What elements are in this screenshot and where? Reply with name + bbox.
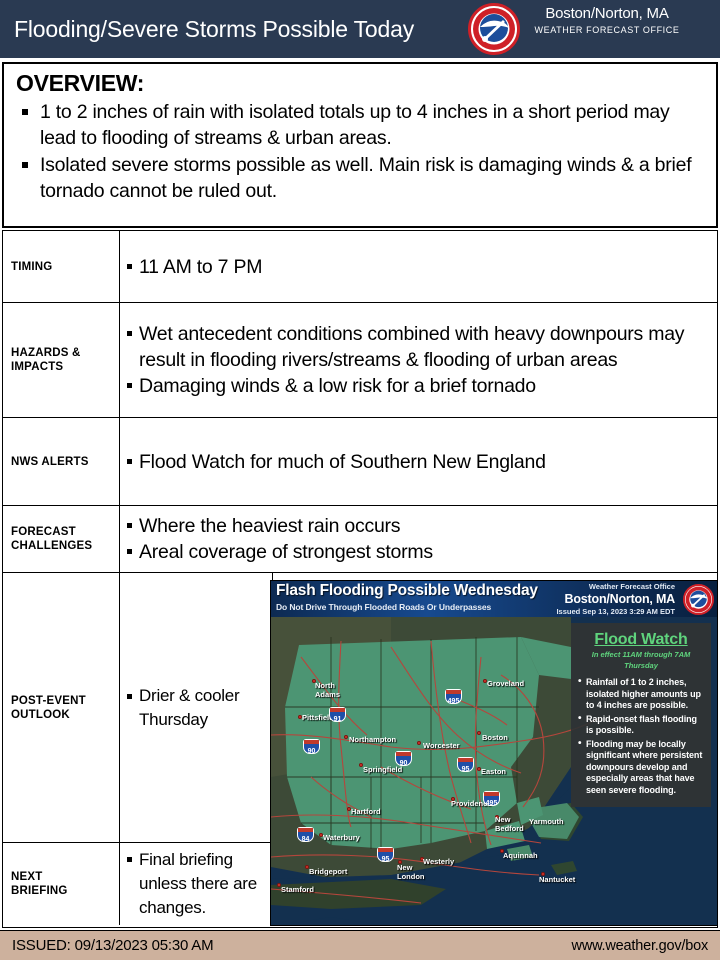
list-item: Rapid-onset flash flooding is possible. bbox=[578, 714, 704, 737]
hazards-bullet-list: Wet antecedent conditions combined with … bbox=[126, 321, 711, 399]
map-canvas: NorthAdams Pittsfield Northampton Spring… bbox=[271, 617, 717, 926]
list-item: Where the heaviest rain occurs bbox=[126, 513, 711, 539]
map-city-label: Yarmouth bbox=[529, 817, 564, 826]
flood-watch-info-box: Flood Watch In effect 11AM through 7AM T… bbox=[571, 623, 711, 807]
row-label-line2: BRIEFING bbox=[11, 884, 68, 898]
issued-timestamp: ISSUED: 09/13/2023 05:30 AM bbox=[12, 937, 213, 954]
map-city-label: Easton bbox=[481, 767, 506, 776]
table-row-nws-alerts: NWS ALERTS Flood Watch for much of South… bbox=[3, 418, 717, 506]
map-office-block: Weather Forecast Office Boston/Norton, M… bbox=[556, 581, 675, 617]
row-content-timing: 11 AM to 7 PM bbox=[120, 231, 717, 302]
map-city-label: NewLondon bbox=[397, 863, 425, 881]
row-label-hazards: HAZARDS & IMPACTS bbox=[3, 303, 120, 417]
row-label-line2: IMPACTS bbox=[11, 360, 81, 374]
row-label-line1: FORECAST bbox=[11, 525, 92, 539]
list-item: Wet antecedent conditions combined with … bbox=[126, 321, 711, 373]
map-city-label: Bridgeport bbox=[309, 867, 347, 876]
list-item: Damaging winds & a low risk for a brief … bbox=[126, 373, 711, 399]
map-city-label: Boston bbox=[482, 733, 508, 742]
list-item: 1 to 2 inches of rain with isolated tota… bbox=[14, 99, 706, 151]
list-item: Flooding may be locally significant wher… bbox=[578, 739, 704, 797]
post-event-bullet-list: Drier & cooler Thursday bbox=[126, 684, 266, 732]
highway-shield-icon: 90 bbox=[303, 739, 320, 754]
highway-shield-icon: 91 bbox=[329, 707, 346, 722]
flood-watch-title: Flood Watch bbox=[578, 630, 704, 649]
row-label-line2: OUTLOOK bbox=[11, 708, 86, 722]
highway-shield-icon: 495 bbox=[445, 689, 462, 704]
row-content-nws-alerts: Flood Watch for much of Southern New Eng… bbox=[120, 418, 717, 505]
row-label-line1: POST-EVENT bbox=[11, 694, 86, 708]
nws-logo-icon bbox=[683, 584, 714, 615]
list-item: 11 AM to 7 PM bbox=[126, 254, 711, 280]
row-label-post-event-outlook: POST-EVENT OUTLOOK bbox=[3, 573, 120, 842]
header-office-block: Boston/Norton, MA WEATHER FORECAST OFFIC… bbox=[502, 4, 712, 36]
forecast-bullet-list: Where the heaviest rain occurs Areal cov… bbox=[126, 513, 711, 565]
flood-watch-subtitle: In effect 11AM through 7AM Thursday bbox=[578, 649, 704, 671]
map-city-label: Worcester bbox=[423, 741, 460, 750]
list-item: Isolated severe storms possible as well.… bbox=[14, 152, 706, 204]
table-row-forecast-challenges: FORECAST CHALLENGES Where the heaviest r… bbox=[3, 506, 717, 573]
list-item: Drier & cooler Thursday bbox=[126, 684, 266, 732]
overview-title: OVERVIEW: bbox=[16, 70, 706, 97]
row-label-line2: CHALLENGES bbox=[11, 539, 92, 553]
row-content-next-briefing: Final briefing unless there are changes. bbox=[120, 843, 273, 925]
map-city-label: Stamford bbox=[281, 885, 314, 894]
map-city-label: Nantucket bbox=[539, 875, 575, 884]
list-item: Rainfall of 1 to 2 inches, isolated high… bbox=[578, 677, 704, 712]
map-headline: Flash Flooding Possible Wednesday bbox=[276, 582, 538, 600]
timing-bullet-list: 11 AM to 7 PM bbox=[126, 254, 711, 280]
flood-map-graphic: Flash Flooding Possible Wednesday Do Not… bbox=[270, 580, 718, 926]
page-title: Flooding/Severe Storms Possible Today bbox=[14, 16, 414, 43]
office-name: Boston/Norton, MA bbox=[502, 4, 712, 24]
map-header-bar: Flash Flooding Possible Wednesday Do Not… bbox=[271, 581, 717, 617]
map-office-label: Weather Forecast Office bbox=[556, 581, 675, 592]
row-content-post-event-outlook: Drier & cooler Thursday bbox=[120, 573, 273, 842]
map-office-name: Boston/Norton, MA bbox=[556, 592, 675, 606]
map-city-dot bbox=[477, 731, 481, 735]
map-city-label: Hartford bbox=[351, 807, 381, 816]
table-row-timing: TIMING 11 AM to 7 PM bbox=[3, 231, 717, 303]
map-city-label: Westerly bbox=[423, 857, 454, 866]
map-city-label: NewBedford bbox=[495, 815, 524, 833]
highway-shield-icon: 95 bbox=[377, 847, 394, 862]
flood-watch-bullet-list: Rainfall of 1 to 2 inches, isolated high… bbox=[578, 677, 704, 796]
row-label-forecast-challenges: FORECAST CHALLENGES bbox=[3, 506, 120, 572]
row-label-timing: TIMING bbox=[3, 231, 120, 302]
row-label-line1: NEXT bbox=[11, 870, 68, 884]
map-city-label: Aquinnah bbox=[503, 851, 538, 860]
next-briefing-bullet-list: Final briefing unless there are changes. bbox=[126, 848, 266, 920]
overview-section: OVERVIEW: 1 to 2 inches of rain with iso… bbox=[2, 62, 718, 228]
website-link[interactable]: www.weather.gov/box bbox=[572, 938, 708, 954]
row-label-next-briefing: NEXT BRIEFING bbox=[3, 843, 120, 925]
map-subheadline: Do Not Drive Through Flooded Roads Or Un… bbox=[276, 602, 491, 612]
list-item: Flood Watch for much of Southern New Eng… bbox=[126, 449, 711, 475]
highway-shield-icon: 90 bbox=[395, 751, 412, 766]
map-city-label: Waterbury bbox=[323, 833, 360, 842]
row-label-line1: HAZARDS & bbox=[11, 346, 81, 360]
alerts-bullet-list: Flood Watch for much of Southern New Eng… bbox=[126, 449, 711, 475]
map-city-label: Groveland bbox=[487, 679, 524, 688]
list-item: Areal coverage of strongest storms bbox=[126, 539, 711, 565]
map-city-label: NorthAdams bbox=[315, 681, 340, 699]
highway-shield-icon: 84 bbox=[297, 827, 314, 842]
briefing-page: Flooding/Severe Storms Possible Today Bo… bbox=[0, 0, 720, 960]
row-content-hazards: Wet antecedent conditions combined with … bbox=[120, 303, 717, 417]
row-label-nws-alerts: NWS ALERTS bbox=[3, 418, 120, 505]
table-row-hazards: HAZARDS & IMPACTS Wet antecedent conditi… bbox=[3, 303, 717, 418]
row-content-forecast-challenges: Where the heaviest rain occurs Areal cov… bbox=[120, 506, 717, 572]
office-subtitle: WEATHER FORECAST OFFICE bbox=[502, 24, 712, 36]
highway-shield-icon: 95 bbox=[457, 757, 474, 772]
map-city-dot bbox=[344, 735, 348, 739]
map-city-label: Northampton bbox=[349, 735, 396, 744]
highway-shield-icon: 495 bbox=[483, 791, 500, 806]
list-item: Final briefing unless there are changes. bbox=[126, 848, 266, 920]
map-city-dot bbox=[417, 741, 421, 745]
map-issued-time: Issued Sep 13, 2023 3:29 AM EDT bbox=[556, 606, 675, 617]
page-header: Flooding/Severe Storms Possible Today Bo… bbox=[0, 0, 720, 58]
page-footer: ISSUED: 09/13/2023 05:30 AM www.weather.… bbox=[0, 930, 720, 960]
overview-bullet-list: 1 to 2 inches of rain with isolated tota… bbox=[14, 99, 706, 204]
